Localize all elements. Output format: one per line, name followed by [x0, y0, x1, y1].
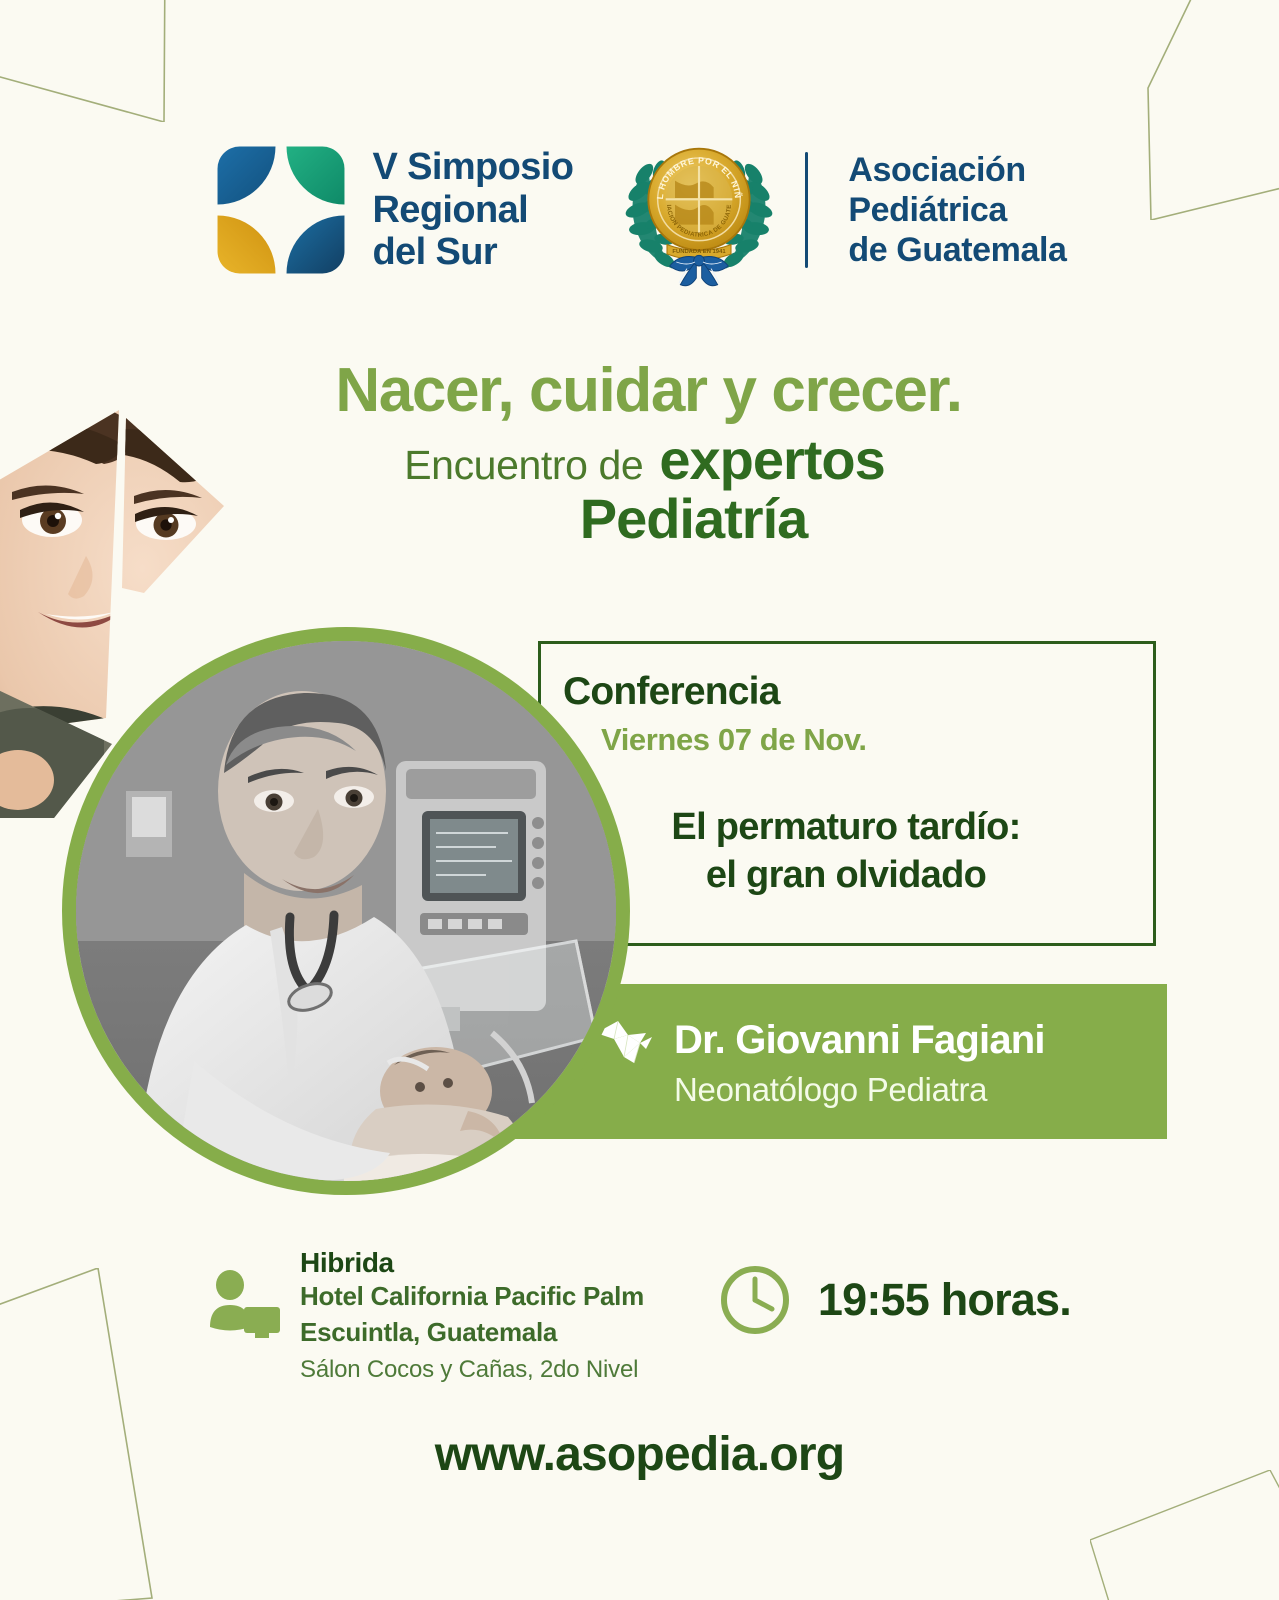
- simposio-line-1: V Simposio: [372, 146, 573, 189]
- event-time: 19:55 horas.: [818, 1274, 1071, 1326]
- conference-box: Conferencia Viernes 07 de Nov. El permat…: [538, 641, 1156, 946]
- asociacion-line-3: de Guatemala: [848, 230, 1066, 270]
- title-line-2-light: Encuentro de: [404, 445, 643, 487]
- venue-line-1: Hotel California Pacific Palm: [300, 1279, 644, 1315]
- venue-line-3: Sálon Cocos y Cañas, 2do Nivel: [300, 1353, 644, 1387]
- poster-canvas: V Simposio Regional del Sur: [0, 0, 1279, 1600]
- simposio-logo-block: V Simposio Regional del Sur: [212, 141, 573, 279]
- venue-group: Hibrida Hotel California Pacific Palm Es…: [208, 1243, 644, 1386]
- deco-polygon-bottom-right: [1090, 1470, 1279, 1600]
- deco-polygon-top-left: [0, 0, 200, 122]
- person-monitor-icon: [208, 1267, 280, 1343]
- clock-icon: [718, 1263, 792, 1337]
- poster-title: Nacer, cuidar y crecer. Encuentro de exp…: [0, 358, 1279, 551]
- speaker-photo: [62, 627, 630, 1195]
- website-url[interactable]: www.asopedia.org: [0, 1427, 1279, 1482]
- simposio-title-text: V Simposio Regional del Sur: [372, 146, 573, 274]
- asociacion-logo-block: AL HOMBRE POR EL NIÑO ASOCIACION PEDIATR…: [619, 130, 1066, 290]
- poster-header: V Simposio Regional del Sur: [0, 130, 1279, 290]
- asociacion-line-2: Pediátrica: [848, 190, 1066, 230]
- speaker-role: Neonatólogo Pediatra: [674, 1071, 987, 1109]
- event-info-row: Hibrida Hotel California Pacific Palm Es…: [0, 1243, 1279, 1386]
- title-line-3: Pediatría: [108, 488, 1279, 551]
- simposio-quadrant-logo-icon: [212, 141, 350, 279]
- conference-topic-line-1: El permaturo tardío:: [563, 804, 1129, 852]
- title-line-2-bold: expertos: [659, 431, 884, 488]
- simposio-line-3: del Sur: [372, 231, 573, 274]
- title-line-2: Encuentro de expertos: [10, 431, 1279, 488]
- apg-laurel-emblem-icon: AL HOMBRE POR EL NIÑO ASOCIACION PEDIATR…: [619, 130, 779, 290]
- title-line-1: Nacer, cuidar y crecer.: [18, 358, 1279, 425]
- conference-topic-line-2: el gran olvidado: [563, 852, 1129, 900]
- conference-date: Viernes 07 de Nov.: [601, 722, 1153, 758]
- speaker-name: Dr. Giovanni Fagiani: [674, 1018, 1045, 1063]
- conference-label: Conferencia: [563, 670, 1153, 714]
- venue-mode: Hibrida: [300, 1247, 644, 1279]
- asociacion-title-text: Asociación Pediátrica de Guatemala: [848, 150, 1066, 270]
- conference-topic: El permaturo tardío: el gran olvidado: [563, 804, 1153, 900]
- svg-text:FUNDADA EN 1941: FUNDADA EN 1941: [673, 249, 727, 255]
- venue-line-2: Escuintla, Guatemala: [300, 1315, 644, 1351]
- asociacion-line-1: Asociación: [848, 150, 1066, 190]
- simposio-line-2: Regional: [372, 189, 573, 232]
- time-group: 19:55 horas.: [718, 1263, 1071, 1337]
- header-divider: [805, 152, 808, 268]
